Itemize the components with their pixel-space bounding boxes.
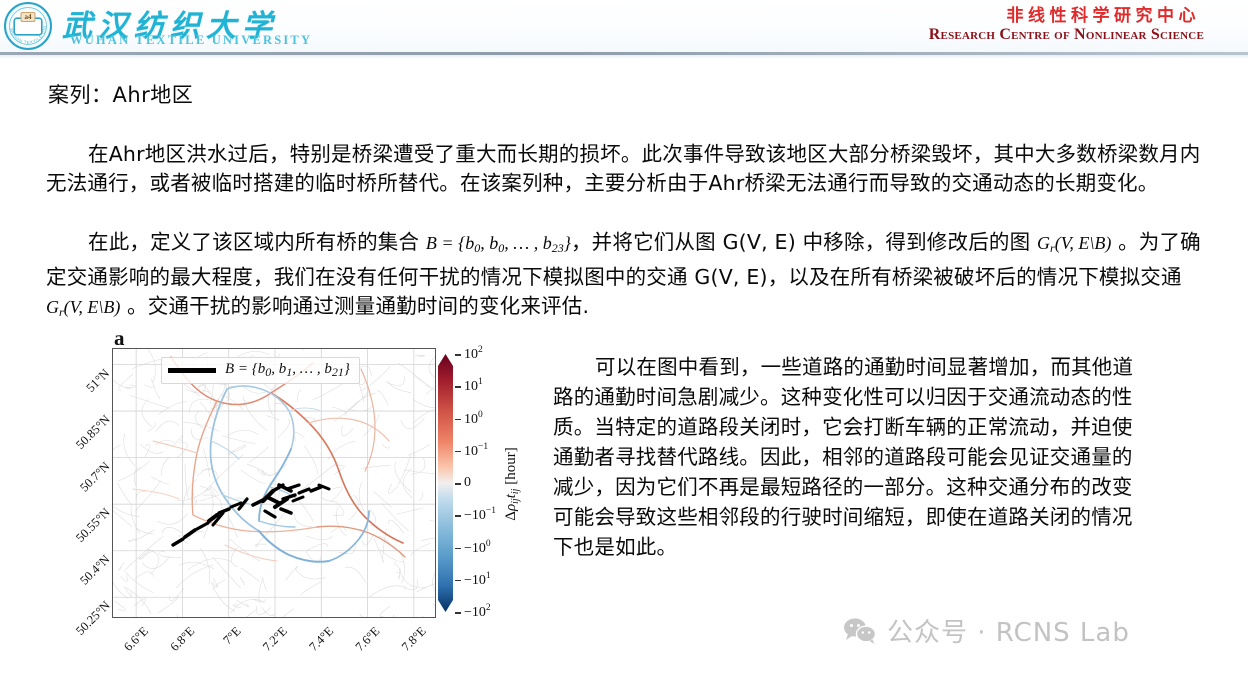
map-y-tick: 50.55°N [73,505,113,545]
colorbar-tick-mark [455,612,461,614]
figure-ahr-map: a 51°N50.85°N50.7°N50.55°N50.4°N50.25°N … [100,326,550,646]
map-roads-svg [113,349,436,618]
map-y-tick: 50.7°N [77,459,113,495]
colorbar-tick-label: 101 [464,377,483,395]
paragraph-definition: 在此，定义了该区域内所有桥的集合 B = {b0, b0, … , b23}，并… [46,228,1206,327]
colorbar-tick-label: 100 [464,410,483,428]
seal-book-icon: a4 [15,19,41,34]
para2-text-d: 。交通干扰的影响通过测量通勤时间的变化来评估. [120,294,589,318]
colorbar-tick-mark [455,419,461,421]
map-y-tick: 50.25°N [73,598,113,638]
colorbar-tick-label: −101 [464,571,491,589]
header-divider-shadow [0,55,1248,59]
colorbar-tick-label: 102 [464,345,483,363]
colorbar-tick-mark [455,483,461,485]
colorbar-tick-label: 10−1 [464,442,488,460]
seal-badge-label: a4 [21,12,36,22]
colorbar-tick-mark [455,580,461,582]
colorbar-tick-label: −102 [464,603,491,621]
map-y-tick: 50.4°N [77,552,113,588]
math-set-B: B = {b0, b0, … , b23} [426,233,571,253]
colorbar-title: Δρijtij [hour] [503,447,521,520]
map-y-tick: 50.85°N [73,412,113,452]
colorbar-gradient [438,354,453,612]
colorbar-tick-label: 0 [464,475,471,491]
colorbar-tick-mark [455,451,461,453]
paragraph-intro: 在Ahr地区洪水过后，特别是桥梁遭受了重大而长期的损坏。此次事件导致该地区大部分… [46,140,1206,198]
university-seal-icon: WUHAN TEXTILE UNIVERSITY a4 [4,2,52,50]
colorbar-tick-mark [455,354,461,356]
research-centre-name-en: Research Centre of Nonlinear Science [929,26,1204,44]
para2-text-a: 在此，定义了该区域内所有桥的集合 [88,230,426,254]
colorbar: 10210110010−10−10−1−100−101−102 Δρijtij … [438,348,550,620]
colorbar-tick-mark [455,515,461,517]
slide-header: WUHAN TEXTILE UNIVERSITY a4 武汉纺织大学 WUHAN… [0,0,1248,53]
map-y-tick: 51°N [84,366,113,395]
slide-page: WUHAN TEXTILE UNIVERSITY a4 武汉纺织大学 WUHAN… [0,0,1248,686]
colorbar-tick-label: −100 [464,539,491,557]
page-title: 案列：Ahr地区 [48,79,193,109]
watermark-label: 公众号 · RCNS Lab [887,612,1130,649]
math-graph-Gr-2: Gr(V, E\B) [46,297,120,317]
paragraph-analysis: 可以在图中看到，一些道路的通勤时间显著增加，而其他道路的通勤时间急剧减少。这种变… [553,352,1153,562]
colorbar-tick-mark [455,548,461,550]
colorbar-tick-label: −10−1 [464,506,496,524]
wechat-icon [843,617,877,645]
legend-label-B: B = {b0, b1, … , b21} [225,361,350,380]
map-legend: B = {b0, b1, … , b21} [161,357,360,384]
map-plot-area[interactable]: B = {b0, b1, … , b21} [112,348,436,618]
university-name-en: WUHAN TEXTILE UNIVERSITY [70,33,312,48]
map-x-tick: 6.6°E [112,624,152,664]
legend-swatch-bridges [168,368,216,373]
math-graph-Gr-1: Gr(V, E\B) [1037,233,1111,253]
colorbar-tick-mark [455,386,461,388]
wechat-watermark: 公众号 · RCNS Lab [843,612,1130,649]
para2-text-b: ，并将它们从图 G(V, E) 中移除，得到修改后的图 [571,230,1037,254]
research-centre-name-cn: 非线性科学研究中心 [1007,1,1201,26]
